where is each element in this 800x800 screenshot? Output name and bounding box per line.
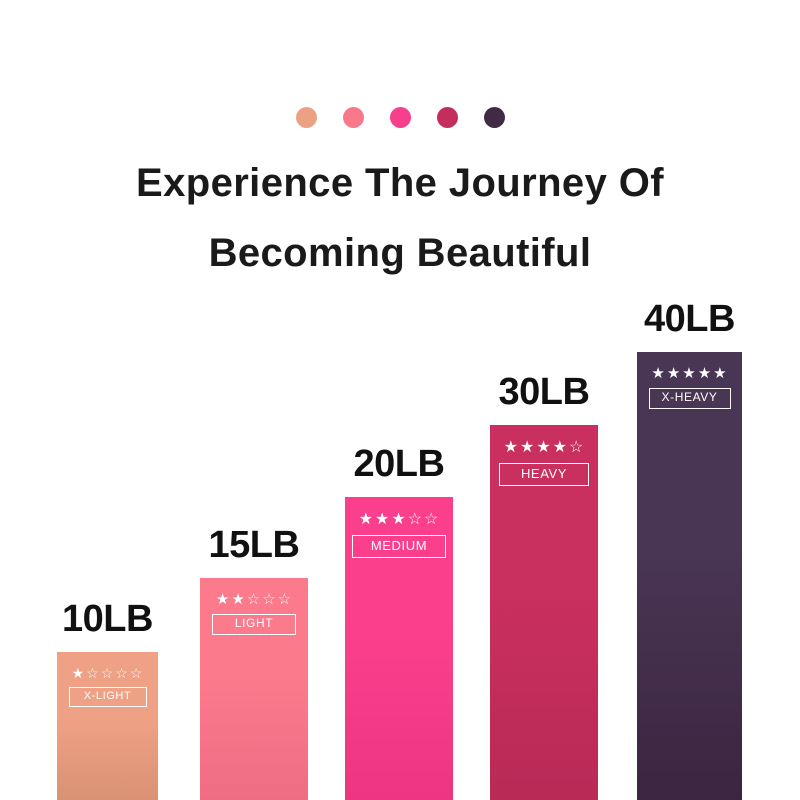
star-filled-icon: ★ [72, 666, 86, 680]
star-empty-icon: ☆ [262, 592, 276, 607]
level-badge-x-heavy: X-HEAVY [649, 388, 731, 409]
star-filled-icon: ★ [216, 592, 230, 607]
star-filled-icon: ★ [520, 440, 535, 456]
bar-20lb[interactable]: ★★★☆☆MEDIUM [345, 497, 453, 800]
star-filled-icon: ★ [391, 512, 406, 528]
star-filled-icon: ★ [375, 512, 390, 528]
bar-weight-label-10lb: 10LB [57, 600, 158, 638]
star-rating-10lb: ★☆☆☆☆ [72, 666, 144, 680]
star-filled-icon: ★ [231, 592, 245, 607]
star-empty-icon: ☆ [247, 592, 261, 607]
star-filled-icon: ★ [698, 366, 712, 381]
star-filled-icon: ★ [713, 366, 727, 381]
bar-30lb[interactable]: ★★★★☆HEAVY [490, 425, 598, 800]
bar-group-30lb[interactable]: 30LB★★★★☆HEAVY [490, 373, 598, 800]
bar-15lb[interactable]: ★★☆☆☆LIGHT [200, 578, 308, 800]
bar-content-15lb: ★★☆☆☆LIGHT [200, 592, 308, 635]
bar-content-30lb: ★★★★☆HEAVY [490, 440, 598, 486]
bar-group-20lb[interactable]: 20LB★★★☆☆MEDIUM [345, 445, 453, 800]
star-filled-icon: ★ [359, 512, 374, 528]
level-badge-heavy: HEAVY [499, 463, 589, 486]
star-filled-icon: ★ [651, 366, 665, 381]
resistance-band-bar-chart: 10LB★☆☆☆☆X-LIGHT15LB★★☆☆☆LIGHT20LB★★★☆☆M… [0, 0, 800, 800]
bar-content-20lb: ★★★☆☆MEDIUM [345, 512, 453, 558]
star-filled-icon: ★ [553, 440, 568, 456]
star-rating-40lb: ★★★★★ [651, 366, 727, 381]
bar-40lb[interactable]: ★★★★★X-HEAVY [637, 352, 742, 800]
star-empty-icon: ☆ [115, 666, 129, 680]
bar-weight-label-40lb: 40LB [637, 300, 742, 338]
bar-group-10lb[interactable]: 10LB★☆☆☆☆X-LIGHT [57, 600, 158, 800]
level-badge-light: LIGHT [212, 614, 296, 635]
star-rating-15lb: ★★☆☆☆ [216, 592, 292, 607]
star-rating-30lb: ★★★★☆ [504, 440, 585, 456]
star-empty-icon: ☆ [101, 666, 115, 680]
bar-10lb[interactable]: ★☆☆☆☆X-LIGHT [57, 652, 158, 800]
bar-weight-label-30lb: 30LB [490, 373, 598, 411]
bar-content-40lb: ★★★★★X-HEAVY [637, 366, 742, 409]
level-badge-x-light: X-LIGHT [69, 687, 147, 707]
star-empty-icon: ☆ [86, 666, 100, 680]
star-empty-icon: ☆ [569, 440, 584, 456]
star-filled-icon: ★ [504, 440, 519, 456]
bar-weight-label-20lb: 20LB [345, 445, 453, 483]
bar-weight-label-15lb: 15LB [200, 526, 308, 564]
star-empty-icon: ☆ [278, 592, 292, 607]
star-empty-icon: ☆ [408, 512, 423, 528]
star-filled-icon: ★ [667, 366, 681, 381]
bar-group-40lb[interactable]: 40LB★★★★★X-HEAVY [637, 300, 742, 800]
level-badge-medium: MEDIUM [352, 535, 446, 558]
star-rating-20lb: ★★★☆☆ [359, 512, 440, 528]
bar-content-10lb: ★☆☆☆☆X-LIGHT [57, 666, 158, 707]
star-filled-icon: ★ [536, 440, 551, 456]
star-empty-icon: ☆ [130, 666, 144, 680]
bar-group-15lb[interactable]: 15LB★★☆☆☆LIGHT [200, 526, 308, 800]
star-filled-icon: ★ [682, 366, 696, 381]
star-empty-icon: ☆ [424, 512, 439, 528]
